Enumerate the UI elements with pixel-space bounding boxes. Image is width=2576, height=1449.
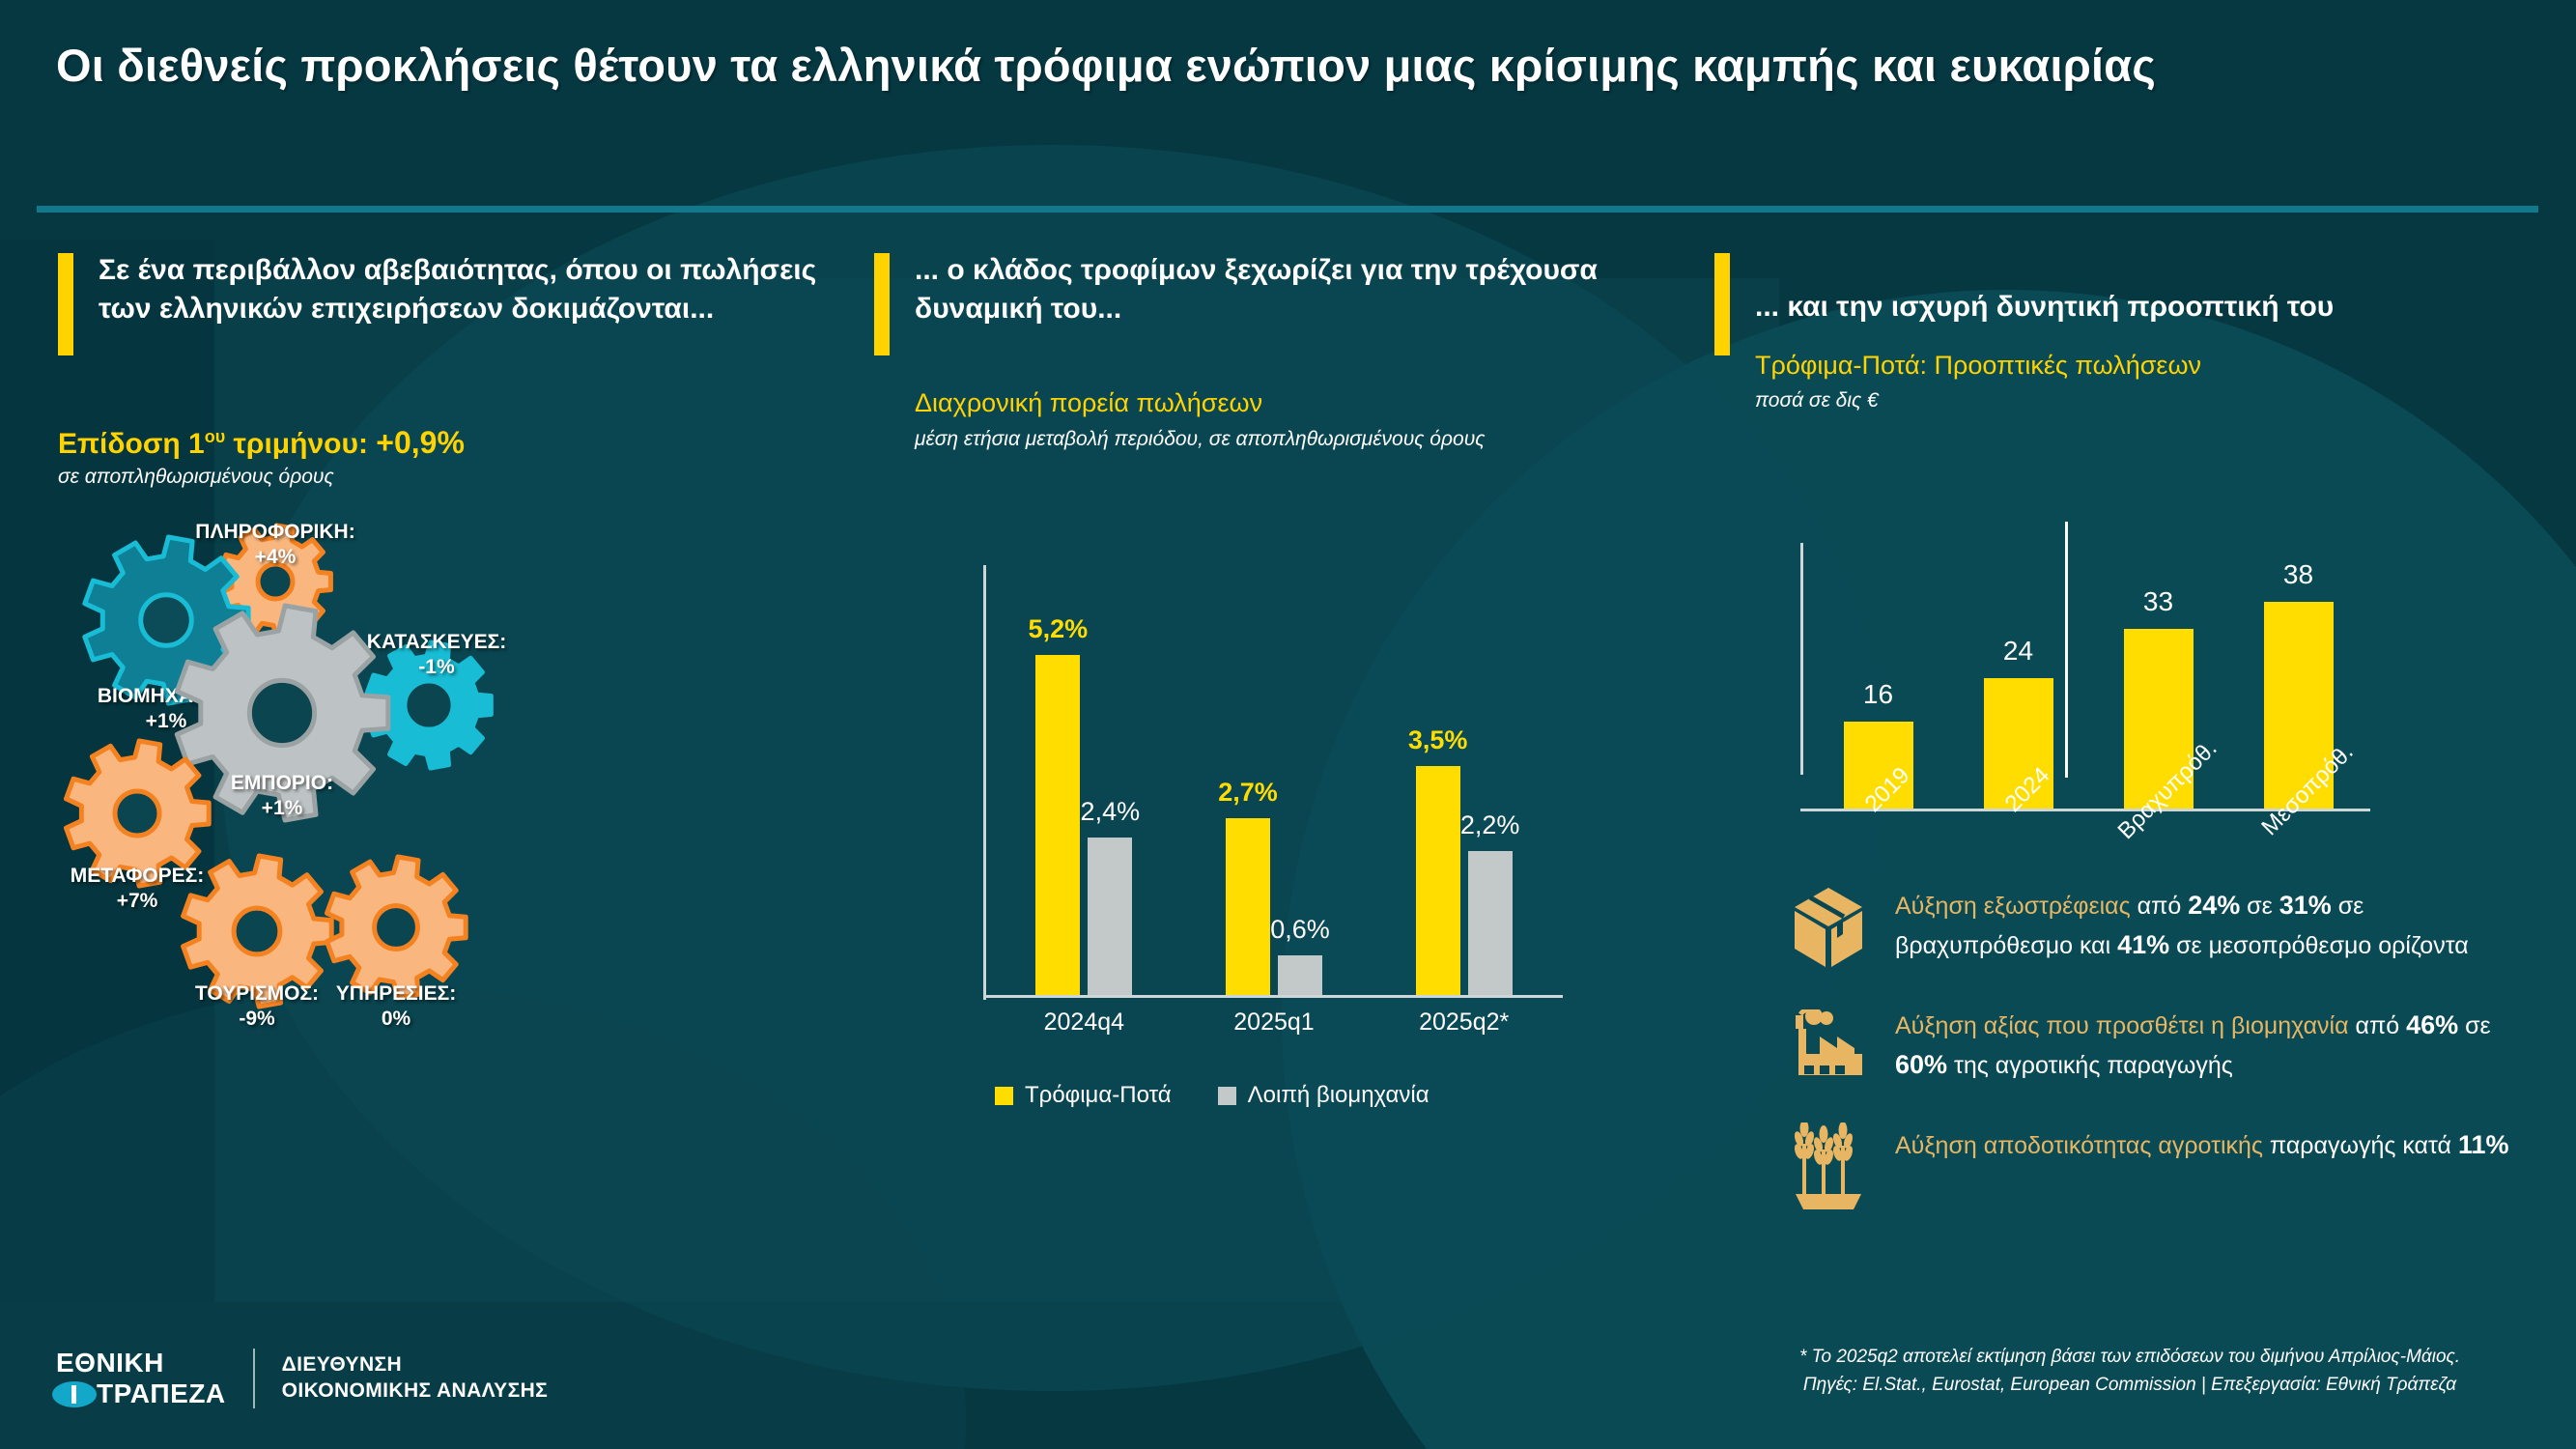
- bar-value-label: 2,2%: [1460, 810, 1520, 840]
- column-left: Σε ένα περιβάλλον αβεβαιότητας, όπου οι …: [58, 251, 869, 367]
- bar-2024q4-other: 2,4%: [1088, 838, 1132, 995]
- kpi-middle: τριμήνου:: [225, 428, 376, 460]
- bar-group-2024q4: 5,2%2,4%: [989, 589, 1179, 995]
- bar-value-label: 38: [2283, 559, 2313, 590]
- gear-7: [323, 854, 469, 1001]
- kicker-left-wrap: Σε ένα περιβάλλον αβεβαιότητας, όπου οι …: [58, 251, 869, 367]
- kpi-note: σε αποπληθωρισμένους όρους: [58, 466, 334, 489]
- logo-divider: [253, 1349, 255, 1408]
- bullet-body: σε: [2240, 893, 2279, 920]
- chart-middle-subtitle: μέση ετήσια μεταβολή περιόδου, σε αποπλη…: [915, 426, 1685, 452]
- kicker-left: Σε ένα περιβάλλον αβεβαιότητας, όπου οι …: [99, 251, 869, 327]
- bar-value-label: 16: [1863, 679, 1893, 710]
- bullet-metric: 41%: [2117, 930, 2169, 959]
- kicker-middle-wrap: ... ο κλάδος τροφίμων ξεχωρίζει για την …: [874, 251, 1685, 452]
- bullet-list: Αύξηση εξωστρέφειας από 24% σε 31% σε βρ…: [1787, 884, 2521, 1243]
- bullet-emphasis: Αύξηση αξίας που προσθέτει η βιομηχανία: [1895, 1012, 2356, 1039]
- bullet-metric: 60%: [1895, 1050, 1947, 1079]
- chart-legend-middle: Τρόφιμα-Ποτά Λοιπή βιομηχανία: [995, 1082, 1430, 1109]
- gear-icon: [323, 854, 469, 1001]
- bullet-metric: 11%: [2458, 1130, 2509, 1159]
- bullet-item-1: Αύξηση εξωστρέφειας από 24% σε 31% σε βρ…: [1787, 884, 2521, 971]
- bar-value-label: 0,6%: [1270, 915, 1330, 945]
- bullet-text-2: Αύξηση αξίας που προσθέτει η βιομηχανία …: [1895, 1004, 2521, 1085]
- legend-item-food: Τρόφιμα-Ποτά: [995, 1082, 1172, 1109]
- bullet-text-1: Αύξηση εξωστρέφειας από 24% σε 31% σε βρ…: [1895, 884, 2521, 965]
- kicker-accent-bar-right: [1714, 253, 1730, 355]
- wheat-icon: [1790, 1122, 1867, 1211]
- column-middle: ... ο κλάδος τροφίμων ξεχωρίζει για την …: [874, 251, 1685, 452]
- bullet-emphasis: Αύξηση αποδοτικότητας αγροτικής: [1895, 1132, 2270, 1159]
- chart-sales-trend: 5,2%2,4%2,7%0,6%3,5%2,2% 2024q42025q1202…: [966, 565, 1565, 1019]
- wheat-icon: [1787, 1123, 1870, 1210]
- bullet-text-3: Αύξηση αποδοτικότητας αγροτικής παραγωγή…: [1895, 1123, 2509, 1165]
- x-axis-middle: [983, 995, 1563, 998]
- legend-item-other: Λοιπή βιομηχανία: [1218, 1082, 1430, 1109]
- footnote-estimate: * Το 2025q2 αποτελεί εκτίμηση βάσει των …: [1729, 1343, 2531, 1371]
- logo-dept-line2: ΟΙΚΟΝΟΜΙΚΗΣ ΑΝΑΛΥΣΗΣ: [282, 1378, 549, 1405]
- bar-2024q4-food: 5,2%: [1035, 655, 1080, 995]
- logo-line1: ΕΘΝΙΚΗ: [56, 1348, 164, 1378]
- kpi-prefix: Επίδοση 1: [58, 428, 205, 460]
- bar-2025q2*-food: 3,5%: [1416, 766, 1460, 995]
- column-right: ... και την ισχυρή δυνητική προοπτική το…: [1714, 251, 2526, 414]
- x-tick-labels-right: 20192024Βραχυπρόθ.Μεσοπρόθ.: [1808, 781, 2368, 808]
- gear-sector-value: -9%: [195, 1007, 319, 1032]
- bar-cell-1: 24: [1948, 557, 2088, 809]
- logo-wordmark: ΕΘΝΙΚΗ ΤΡΑΠΕΖΑ: [56, 1348, 226, 1408]
- bar-group-2025q1: 2,7%0,6%: [1179, 589, 1370, 995]
- bar-group-2025q2*: 3,5%2,2%: [1369, 589, 1559, 995]
- kpi-quarter: Επίδοση 1ου τριμήνου: +0,9%: [58, 425, 465, 461]
- bullet-metric: 31%: [2279, 891, 2332, 920]
- legend-label-food: Τρόφιμα-Ποτά: [1025, 1082, 1172, 1109]
- kicker-right: ... και την ισχυρή δυνητική προοπτική το…: [1755, 251, 2526, 327]
- logo-ellipse-icon: [52, 1381, 97, 1407]
- kicker-right-wrap: ... και την ισχυρή δυνητική προοπτική το…: [1714, 251, 2526, 414]
- y-axis-middle: [983, 565, 986, 1000]
- bar-cell-0: 16: [1808, 557, 1948, 809]
- box-icon: [1791, 886, 1866, 969]
- bar-value-label: 33: [2143, 586, 2173, 617]
- legend-swatch-other: [1218, 1087, 1236, 1105]
- bar-value-label: 5,2%: [1029, 614, 1089, 644]
- header-divider: [37, 206, 2538, 213]
- bullet-body: της αγροτικής παραγωγής: [1947, 1052, 2233, 1079]
- bars-middle: 5,2%2,4%2,7%0,6%3,5%2,2%: [989, 589, 1559, 995]
- x-tick-labels-middle: 2024q42025q12025q2*: [989, 1009, 1559, 1037]
- gear-sector-value: 0%: [336, 1007, 456, 1032]
- kicker-accent-bar-middle: [874, 253, 890, 355]
- footnote-sources: Πηγές: El.Stat., Eurostat, European Comm…: [1729, 1371, 2531, 1399]
- bar-2025q1-other: 0,6%: [1278, 955, 1322, 995]
- chart-right-subtitle: ποσά σε δις €: [1755, 387, 2526, 413]
- x-tick-2025q2*: 2025q2*: [1369, 1009, 1559, 1037]
- infographic-root: Οι διεθνείς προκλήσεις θέτουν τα ελληνικ…: [0, 0, 2576, 1449]
- chart-right-title: Τρόφιμα-Ποτά: Προοπτικές πωλήσεων: [1755, 350, 2526, 383]
- bar-cell-2: 33: [2088, 557, 2228, 809]
- bullet-item-2: Αύξηση αξίας που προσθέτει η βιομηχανία …: [1787, 1004, 2521, 1091]
- logo-line2: ΤΡΑΠΕΖΑ: [56, 1378, 226, 1408]
- box-icon: [1787, 884, 1870, 971]
- chart-middle-title: Διαχρονική πορεία πωλήσεων: [915, 387, 1685, 420]
- page-title: Οι διεθνείς προκλήσεις θέτουν τα ελληνικ…: [56, 37, 2422, 95]
- factory-icon: [1789, 1009, 1868, 1085]
- bullet-body: σε: [2458, 1012, 2491, 1039]
- logo-dept-line1: ΔΙΕΥΘΥΝΣΗ: [282, 1352, 549, 1378]
- bullet-body: από: [2356, 1012, 2407, 1039]
- chart-sales-outlook: 16243338 20192024Βραχυπρόθ.Μεσοπρόθ.: [1787, 522, 2366, 811]
- factory-icon: [1787, 1004, 1870, 1091]
- bullet-metric: 46%: [2406, 1010, 2458, 1039]
- bullet-body: παραγωγής κατά: [2270, 1132, 2458, 1159]
- bullet-metric: 24%: [2188, 891, 2240, 920]
- brand-logo: ΕΘΝΙΚΗ ΤΡΑΠΕΖΑ ΔΙΕΥΘΥΝΣΗ ΟΙΚΟΝΟΜΙΚΗΣ ΑΝΑ…: [56, 1348, 548, 1408]
- y-axis-right: [1800, 543, 1803, 775]
- x-tick-2025q1: 2025q1: [1179, 1009, 1370, 1037]
- gear-diagram: ΠΛΗΡΟΦΟΡΙΚΗ:+4%ΒΙΟΜΗΧΑΝΙΑ:+1%ΚΑΤΑΣΚΕΥΕΣ:…: [77, 541, 850, 1256]
- legend-swatch-food: [995, 1087, 1013, 1105]
- bar-2025q1-food: 2,7%: [1226, 818, 1270, 995]
- bullet-body: σε μεσοπρόθεσμο ορίζοντα: [2169, 932, 2469, 959]
- kicker-accent-bar-left: [58, 253, 73, 355]
- gear-icon: [179, 853, 335, 1009]
- x-tick-2024q4: 2024q4: [989, 1009, 1179, 1037]
- bar-value-label: 3,5%: [1408, 725, 1468, 755]
- kicker-middle: ... ο κλάδος τροφίμων ξεχωρίζει για την …: [915, 251, 1685, 327]
- bar-cell-3: 38: [2228, 557, 2368, 809]
- kpi-value: +0,9%: [376, 425, 465, 460]
- bullet-emphasis: Αύξηση εξωστρέφειας: [1895, 893, 2137, 920]
- legend-label-other: Λοιπή βιομηχανία: [1248, 1082, 1430, 1109]
- bar-value-label: 24: [2003, 636, 2033, 667]
- bullet-body: από: [2137, 893, 2189, 920]
- bar-value-label: 2,4%: [1081, 797, 1141, 827]
- bar-2025q2*-other: 2,2%: [1468, 851, 1513, 995]
- footnotes: * Το 2025q2 αποτελεί εκτίμηση βάσει των …: [1729, 1343, 2531, 1400]
- bar-value-label: 2,7%: [1218, 778, 1278, 808]
- gear-6: [179, 853, 335, 1009]
- kpi-superscript: ου: [205, 427, 225, 446]
- bullet-item-3: Αύξηση αποδοτικότητας αγροτικής παραγωγή…: [1787, 1123, 2521, 1210]
- logo-department: ΔΙΕΥΘΥΝΣΗ ΟΙΚΟΝΟΜΙΚΗΣ ΑΝΑΛΥΣΗΣ: [282, 1352, 549, 1405]
